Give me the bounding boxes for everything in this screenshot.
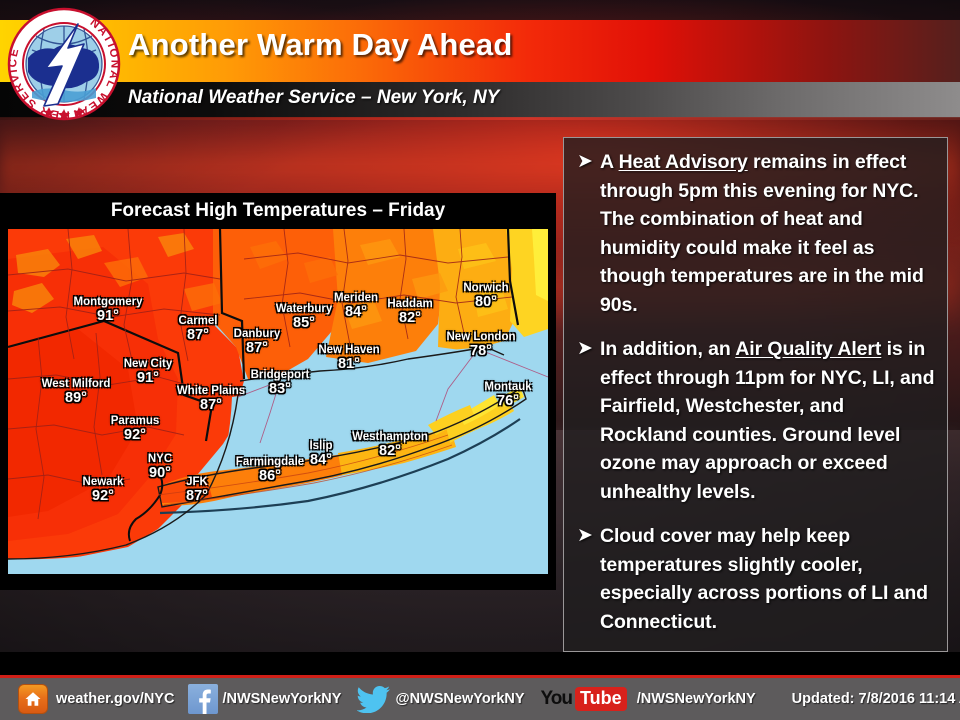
footer-bar: weather.gov/NYC /NWSNewYorkNY @NWSNewYor… <box>0 675 960 720</box>
website-label: weather.gov/NYC <box>56 691 174 707</box>
footer-black-strip <box>0 652 960 675</box>
bullet-arrow-icon: ➤ <box>574 335 600 363</box>
discussion-bullet: ➤Cloud cover may help keep temperatures … <box>574 522 935 636</box>
header: Another Warm Day Ahead National Weather … <box>0 0 960 118</box>
youtube-icon: You Tube <box>541 687 627 711</box>
discussion-bullet: ➤A Heat Advisory remains in effect throu… <box>574 148 935 319</box>
footer-twitter[interactable]: @NWSNewYorkNY <box>341 678 524 720</box>
facebook-icon <box>188 684 218 714</box>
updated-timestamp: Updated: 7/8/2016 11:14 AM <box>792 691 960 707</box>
bullet-text: In addition, an Air Quality Alert is in … <box>600 335 935 506</box>
bullet-arrow-icon: ➤ <box>574 522 600 550</box>
footer-website[interactable]: weather.gov/NYC <box>0 678 174 720</box>
bullet-arrow-icon: ➤ <box>574 148 600 176</box>
bullet-segment: remains in effect through 5pm this eveni… <box>600 151 924 316</box>
weather-graphic-slide: Another Warm Day Ahead National Weather … <box>0 0 960 720</box>
map-title: Forecast High Temperatures – Friday <box>0 193 556 229</box>
header-underline <box>0 117 960 120</box>
page-title: Another Warm Day Ahead <box>128 27 513 63</box>
bullet-text: Cloud cover may help keep temperatures s… <box>600 522 935 636</box>
facebook-glyph <box>188 686 218 714</box>
twitter-label: @NWSNewYorkNY <box>395 691 524 707</box>
office-subtitle: National Weather Service – New York, NY <box>128 87 499 109</box>
footer-youtube[interactable]: You Tube /NWSNewYorkNY <box>525 678 756 720</box>
footer-facebook[interactable]: /NWSNewYorkNY <box>174 678 341 720</box>
youtube-label: /NWSNewYorkNY <box>637 691 756 707</box>
forecast-map-panel: Forecast High Temperatures – Friday <box>0 193 556 590</box>
twitter-bird-glyph <box>357 685 391 713</box>
temperature-map-svg <box>8 229 548 574</box>
facebook-label: /NWSNewYorkNY <box>222 691 341 707</box>
bullet-segment: A <box>600 151 619 173</box>
temperature-map-image: Montgomery91°Carmel87°Danbury87°Waterbur… <box>8 229 548 574</box>
bullet-segment: is in effect through 11pm for NYC, LI, a… <box>600 338 934 503</box>
youtube-tube-text: Tube <box>575 687 627 711</box>
bullet-emphasis: Air Quality Alert <box>735 338 881 360</box>
twitter-icon <box>357 684 391 714</box>
home-icon <box>18 684 48 714</box>
discussion-text-panel: ➤A Heat Advisory remains in effect throu… <box>563 137 948 652</box>
youtube-you-text: You <box>541 688 572 710</box>
bullet-emphasis: Heat Advisory <box>619 151 748 173</box>
home-glyph <box>24 690 42 708</box>
discussion-bullet: ➤In addition, an Air Quality Alert is in… <box>574 335 935 506</box>
nws-logo-icon: NATIONAL WEATHER SERVICE <box>6 6 122 122</box>
bullet-segment: Cloud cover may help keep temperatures s… <box>600 525 928 633</box>
bullet-segment: In addition, an <box>600 338 735 360</box>
bullet-text: A Heat Advisory remains in effect throug… <box>600 148 935 319</box>
